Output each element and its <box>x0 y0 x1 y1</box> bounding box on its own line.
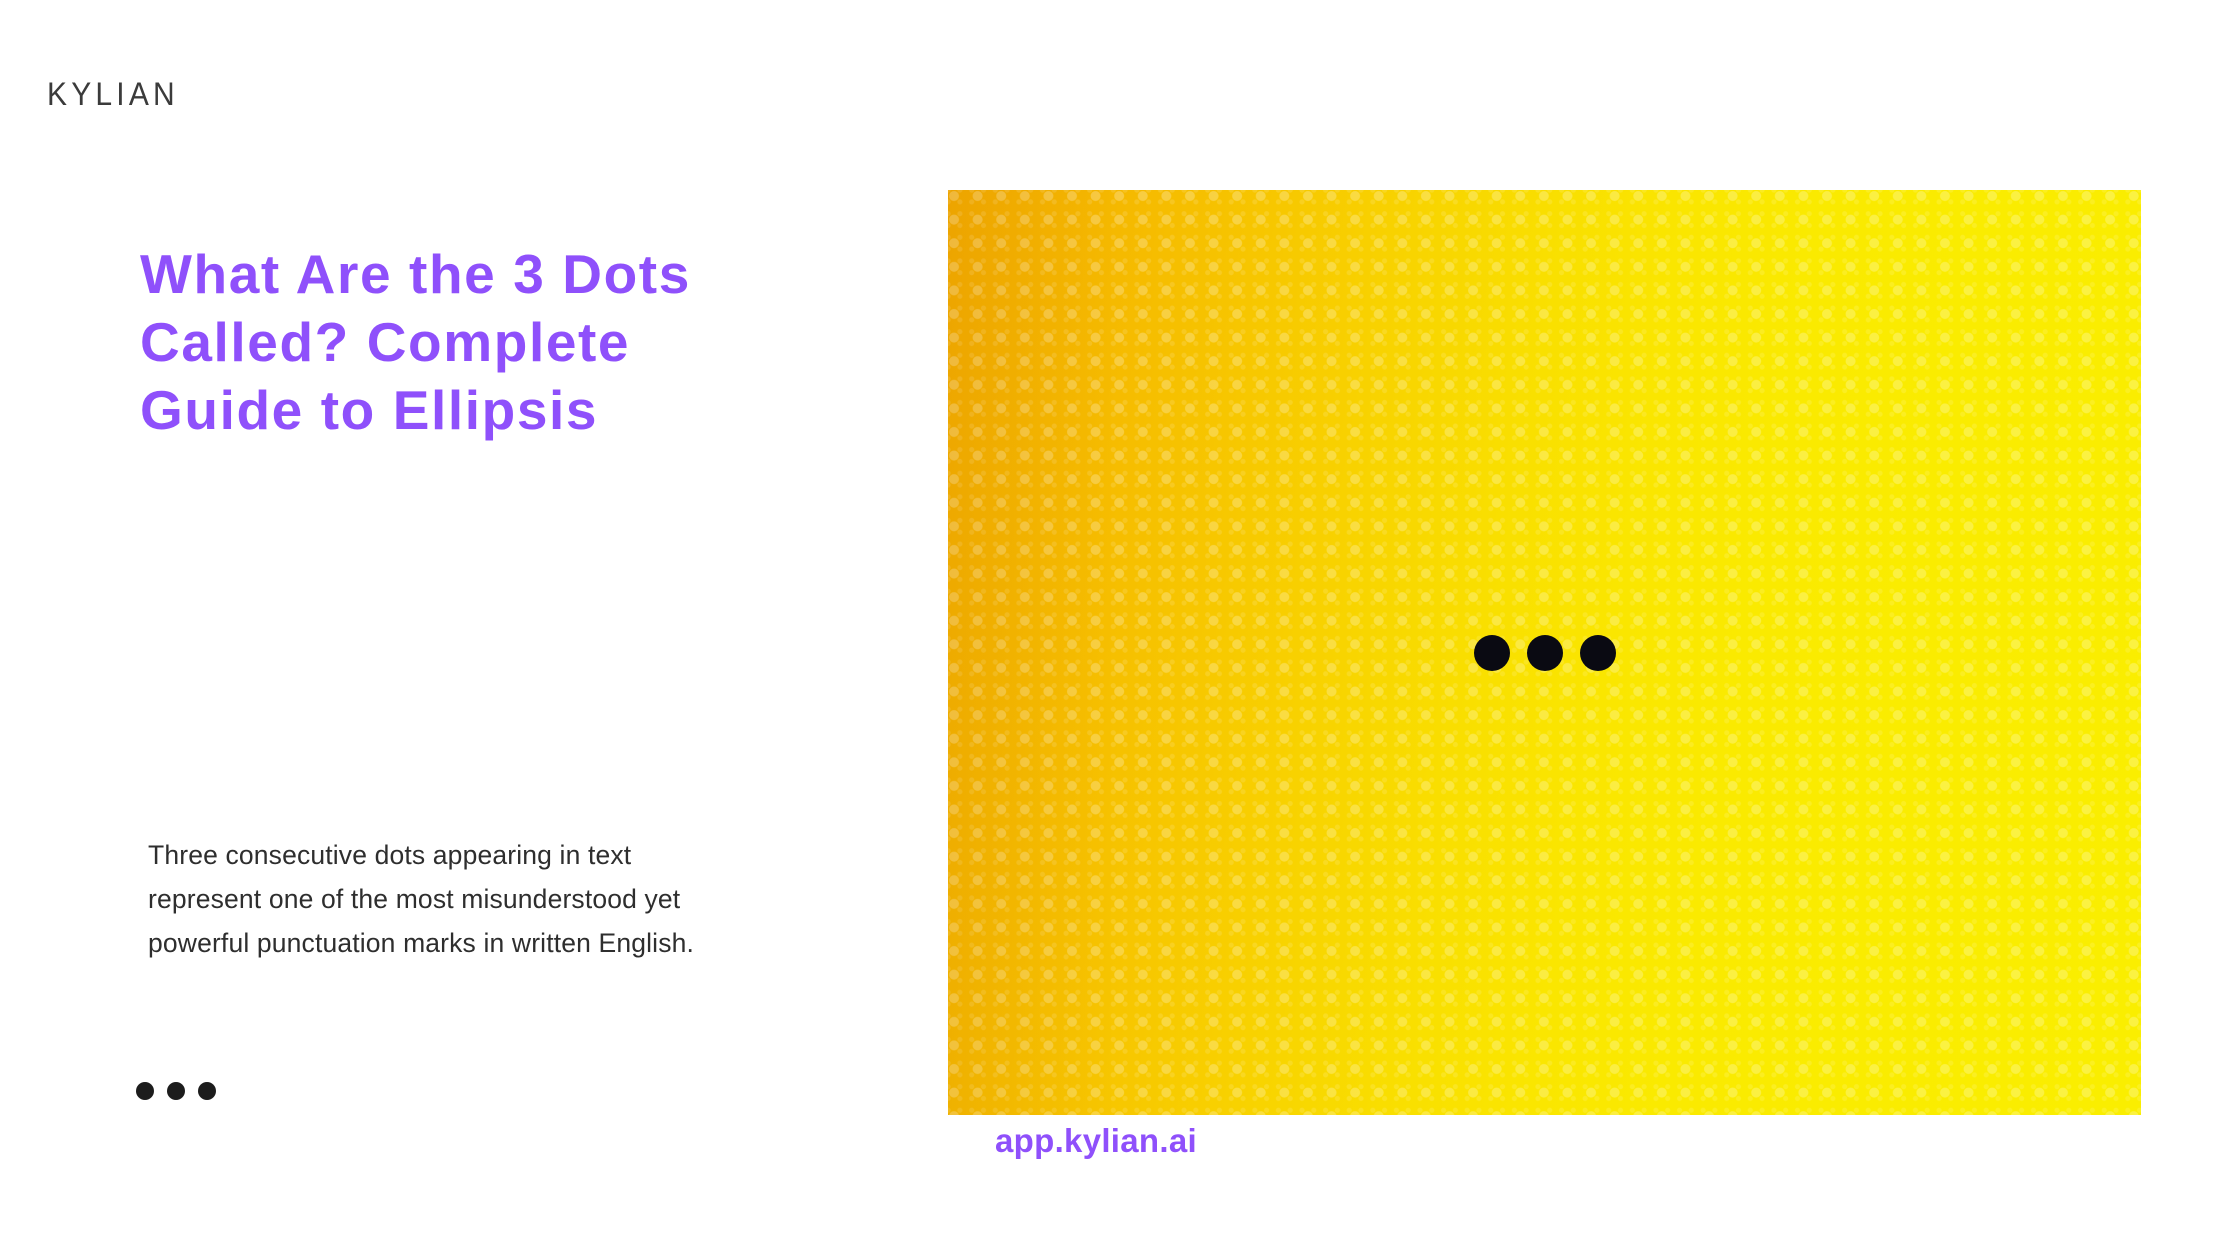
hero-ellipsis-dot-icon <box>1527 635 1563 671</box>
ellipsis-dot-icon <box>136 1082 154 1100</box>
body-line-2: represent one of the most misunderstood … <box>148 884 680 914</box>
body-line-1: Three consecutive dots appearing in text <box>148 840 631 870</box>
headline-line-2: Called? Complete <box>140 311 630 373</box>
hero-ellipsis-graphic <box>1474 635 1616 671</box>
hero-image-panel <box>948 190 2141 1115</box>
slide-canvas: KYLIAN What Are the 3 Dots Called? Compl… <box>0 0 2240 1260</box>
hero-ellipsis-dot-icon <box>1580 635 1616 671</box>
ellipsis-dot-icon <box>167 1082 185 1100</box>
headline-line-3: Guide to Ellipsis <box>140 379 598 441</box>
left-content-column: What Are the 3 Dots Called? Complete Gui… <box>0 0 948 1260</box>
body-paragraph: Three consecutive dots appearing in text… <box>148 833 868 965</box>
site-url-link[interactable]: app.kylian.ai <box>995 1122 1197 1160</box>
hero-ellipsis-dot-icon <box>1474 635 1510 671</box>
ellipsis-accent-mark <box>136 1082 216 1100</box>
body-line-3: powerful punctuation marks in written En… <box>148 928 694 958</box>
headline-line-1: What Are the 3 Dots <box>140 243 691 305</box>
ellipsis-dot-icon <box>198 1082 216 1100</box>
page-title: What Are the 3 Dots Called? Complete Gui… <box>140 240 930 444</box>
